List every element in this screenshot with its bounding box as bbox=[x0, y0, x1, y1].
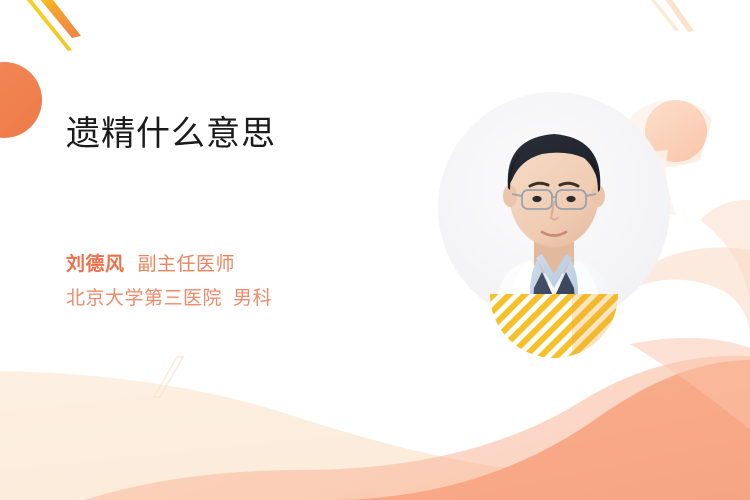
yellow-striped-semicircle bbox=[490, 294, 618, 358]
doctor-name-row: 刘德风副主任医师 bbox=[66, 248, 272, 282]
left-orange-circle bbox=[0, 62, 42, 138]
headline-block: 遗精什么意思 bbox=[66, 110, 446, 158]
doctor-affiliation-row: 北京大学第三医院男科 bbox=[66, 282, 272, 316]
doctor-department: 男科 bbox=[233, 288, 272, 309]
bottom-right-salmon-wave bbox=[0, 338, 750, 500]
doctor-photo bbox=[438, 92, 670, 342]
bottom-left-outline-stripe bbox=[154, 357, 183, 397]
doctor-title: 副主任医师 bbox=[138, 254, 236, 275]
page-title: 遗精什么意思 bbox=[66, 110, 446, 158]
doctor-name: 刘德风 bbox=[66, 254, 125, 275]
photo-disc bbox=[438, 92, 670, 324]
bottom-left-cream-wave bbox=[0, 371, 750, 500]
doctor-info: 刘德风副主任医师 北京大学第三医院男科 bbox=[66, 248, 272, 316]
doctor-portrait-illustration bbox=[438, 92, 670, 324]
top-left-thick-stripe bbox=[34, 0, 81, 38]
top-right-stripes bbox=[648, 0, 694, 32]
doctor-hospital: 北京大学第三医院 bbox=[66, 288, 222, 309]
top-left-thin-stripe bbox=[22, 0, 72, 51]
doctor-answer-card: 遗精什么意思 刘德风副主任医师 北京大学第三医院男科 bbox=[0, 0, 750, 500]
